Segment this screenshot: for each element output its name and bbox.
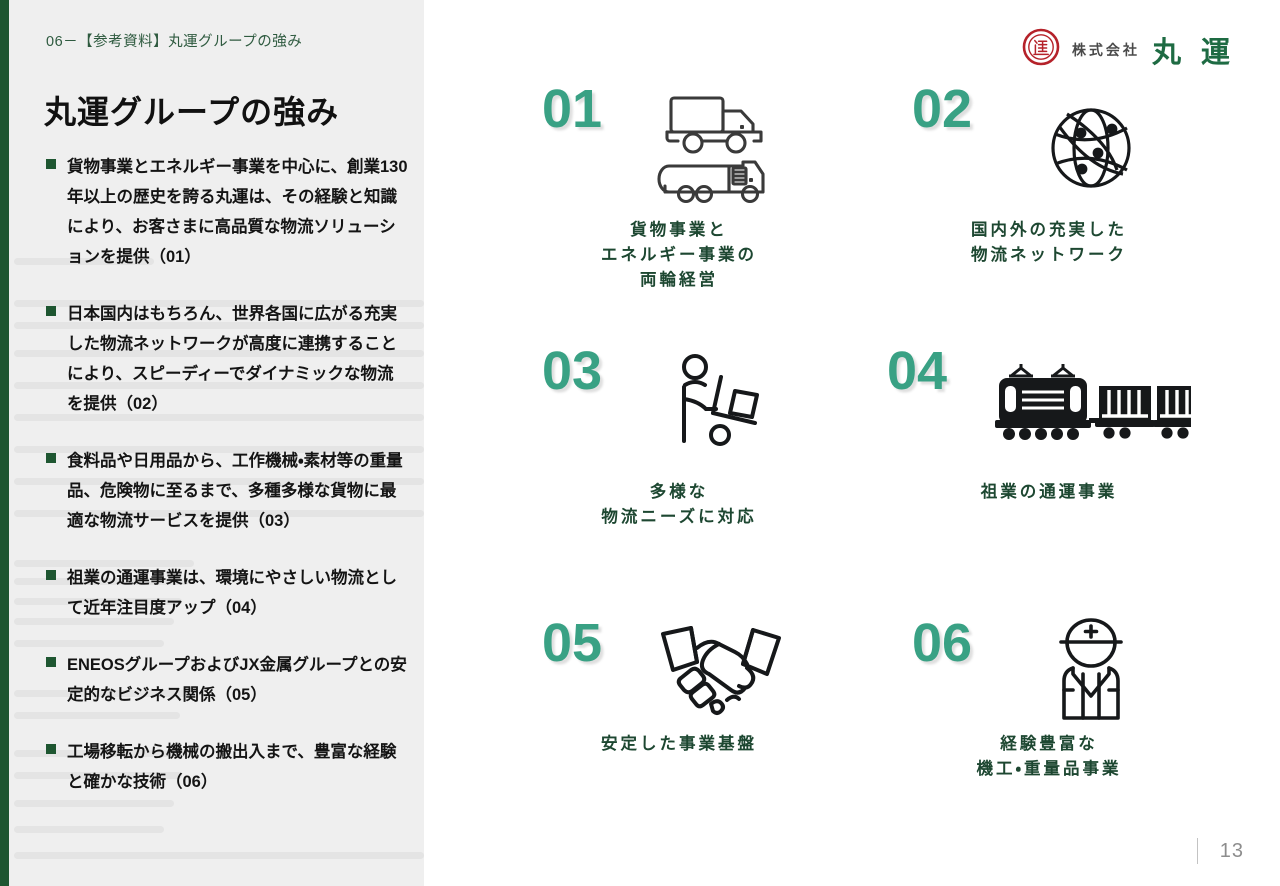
- bullet-square-icon: [46, 744, 56, 754]
- bullet-square-icon: [46, 570, 56, 580]
- caption-line: 物流ネットワーク: [874, 243, 1224, 268]
- page-number: 13: [1220, 840, 1244, 863]
- bullet-text: 日本国内はもちろん、世界各国に広がる充実した物流ネットワークが高度に連携すること…: [67, 299, 408, 419]
- trucks-icon: [646, 78, 796, 218]
- page-footer: 13: [1197, 838, 1244, 864]
- logo-company-name: 丸 運: [1152, 29, 1236, 71]
- feature-number: 03: [542, 344, 638, 398]
- list-item: 貨物事業とエネルギー事業を中心に、創業130年以上の歴史を誇る丸運は、その経験と…: [46, 152, 408, 272]
- maruun-stamp-icon: [1022, 28, 1060, 71]
- feature-caption: 国内外の充実した 物流ネットワーク: [854, 218, 1224, 268]
- left-text-panel: 06－【参考資料】丸運グループの強み 丸運グループの強み 貨物事業とエネルギー事…: [0, 0, 424, 886]
- caption-line: 経験豊富な: [874, 732, 1224, 757]
- feature-caption: 多様な 物流ニーズに対応: [484, 480, 854, 530]
- feature-caption: 貨物事業と エネルギー事業の 両輪経営: [484, 218, 854, 293]
- feature-grid: 01: [484, 78, 1224, 782]
- hand-truck-worker-icon: [646, 340, 796, 480]
- bullet-text: ENEOSグループおよびJX金属グループとの安定的なビジネス関係（05）: [67, 650, 408, 710]
- hardhat-worker-icon: [1016, 612, 1166, 732]
- feature-caption: 安定した事業基盤: [484, 732, 854, 757]
- caption-line: 多様な: [504, 480, 854, 505]
- page-title: 丸運グループの強み: [44, 87, 339, 133]
- bullet-text: 食料品や日用品から、工作機械・素材等の重量品、危険物に至るまで、多種多様な貨物に…: [67, 446, 408, 536]
- feature-caption: 経験豊富な 機工・重量品事業: [854, 732, 1224, 782]
- list-item: 祖業の通運事業は、環境にやさしい物流として近年注目度アップ（04）: [46, 563, 408, 623]
- feature-card-06: 06: [854, 612, 1224, 782]
- feature-card-05: 05: [484, 612, 854, 782]
- caption-line: 祖業の通運事業: [874, 480, 1224, 505]
- bullet-square-icon: [46, 306, 56, 316]
- list-item: ENEOSグループおよびJX金属グループとの安定的なビジネス関係（05）: [46, 650, 408, 710]
- feature-head: 04: [854, 340, 1224, 480]
- feature-head: 01: [484, 78, 854, 218]
- feature-head: 02: [854, 78, 1224, 218]
- logo-company-prefix: 株式会社: [1072, 40, 1140, 60]
- caption-line: 国内外の充実した: [874, 218, 1224, 243]
- bullet-square-icon: [46, 657, 56, 667]
- caption-line: 貨物事業と: [504, 218, 854, 243]
- feature-card-04: 04: [854, 340, 1224, 612]
- right-content-area: 株式会社 丸 運 01: [424, 0, 1280, 886]
- feature-head: 03: [484, 340, 854, 480]
- feature-head: 06: [854, 612, 1224, 732]
- feature-number: 06: [912, 616, 1008, 670]
- list-item: 食料品や日用品から、工作機械・素材等の重量品、危険物に至るまで、多種多様な貨物に…: [46, 446, 408, 536]
- feature-number: 02: [912, 82, 1008, 136]
- caption-line: エネルギー事業の: [504, 243, 854, 268]
- list-item: 日本国内はもちろん、世界各国に広がる充実した物流ネットワークが高度に連携すること…: [46, 299, 408, 419]
- bullet-text: 工場移転から機械の搬出入まで、豊富な経験と確かな技術（06）: [67, 737, 408, 797]
- company-logo: 株式会社 丸 運: [1022, 28, 1236, 71]
- feature-card-03: 03: [484, 340, 854, 612]
- feature-number: 04: [887, 344, 983, 398]
- caption-line: 両輪経営: [504, 268, 854, 293]
- feature-card-02: 02: [854, 78, 1224, 340]
- bullet-square-icon: [46, 159, 56, 169]
- bullet-square-icon: [46, 453, 56, 463]
- section-eyebrow: 06－【参考資料】丸運グループの強み: [46, 30, 302, 51]
- feature-caption: 祖業の通運事業: [854, 480, 1224, 505]
- feature-card-01: 01: [484, 78, 854, 340]
- caption-line: 安定した事業基盤: [504, 732, 854, 757]
- caption-line: 物流ニーズに対応: [504, 505, 854, 530]
- feature-head: 05: [484, 612, 854, 732]
- bullet-text: 祖業の通運事業は、環境にやさしい物流として近年注目度アップ（04）: [67, 563, 408, 623]
- slide-root: 06－【参考資料】丸運グループの強み 丸運グループの強み 貨物事業とエネルギー事…: [0, 0, 1280, 886]
- bullet-list: 貨物事業とエネルギー事業を中心に、創業130年以上の歴史を誇る丸運は、その経験と…: [46, 152, 408, 824]
- handshake-icon: [646, 612, 796, 732]
- bullet-text: 貨物事業とエネルギー事業を中心に、創業130年以上の歴史を誇る丸運は、その経験と…: [67, 152, 408, 272]
- feature-number: 01: [542, 82, 638, 136]
- footer-divider: [1197, 838, 1198, 864]
- feature-number: 05: [542, 616, 638, 670]
- caption-line: 機工・重量品事業: [874, 757, 1224, 782]
- list-item: 工場移転から機械の搬出入まで、豊富な経験と確かな技術（06）: [46, 737, 408, 797]
- left-accent-bar: [0, 0, 9, 886]
- freight-train-icon: [991, 340, 1191, 480]
- globe-network-icon: [1016, 78, 1166, 218]
